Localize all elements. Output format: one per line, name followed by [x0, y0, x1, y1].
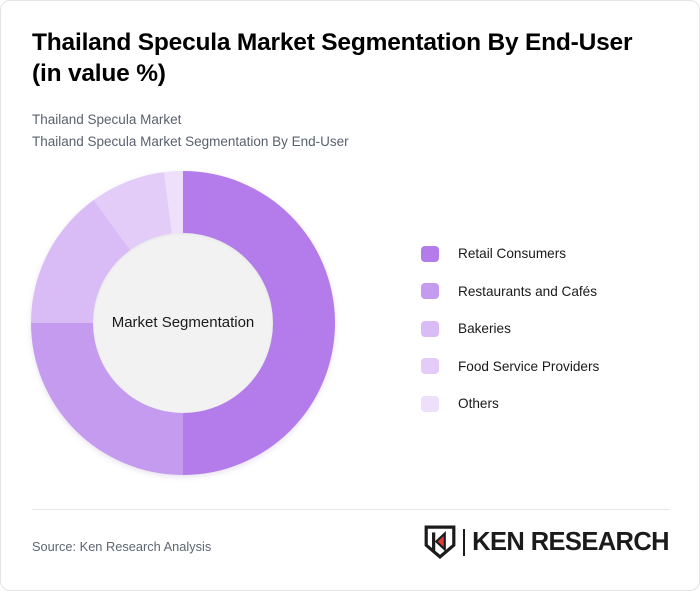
subtitle-market: Thailand Specula Market — [32, 109, 664, 130]
brand-logo: KEN RESEARCH — [423, 525, 669, 559]
chart-plot-area: Market Segmentation Retail Consumers Res… — [1, 161, 700, 506]
legend-item-others[interactable]: Others — [421, 395, 599, 412]
legend-swatch-icon — [421, 321, 439, 337]
legend-swatch-icon — [421, 246, 439, 262]
donut-chart: Market Segmentation — [31, 171, 335, 475]
legend-item-label: Bakeries — [458, 321, 511, 336]
chart-card: Thailand Specula Market Segmentation By … — [0, 0, 700, 591]
brand-divider — [463, 529, 465, 556]
footer-divider — [32, 509, 670, 510]
legend-item-label: Others — [458, 396, 499, 411]
ken-research-shield-icon — [423, 525, 457, 559]
legend-item-retail-consumers[interactable]: Retail Consumers — [421, 245, 599, 262]
donut-center-label: Market Segmentation — [112, 314, 255, 333]
subtitle-segmentation: Thailand Specula Market Segmentation By … — [32, 131, 664, 152]
legend-item-label: Food Service Providers — [458, 359, 599, 374]
legend-item-restaurants-and-cafes[interactable]: Restaurants and Cafés — [421, 283, 599, 300]
source-note: Source: Ken Research Analysis — [32, 539, 211, 554]
brand-name-label: KEN RESEARCH — [472, 528, 669, 557]
page-title: Thailand Specula Market Segmentation By … — [32, 27, 664, 89]
legend-swatch-icon — [421, 358, 439, 374]
legend-swatch-icon — [421, 283, 439, 299]
legend-item-label: Restaurants and Cafés — [458, 284, 597, 299]
legend-item-food-service-providers[interactable]: Food Service Providers — [421, 358, 599, 375]
legend-item-bakeries[interactable]: Bakeries — [421, 320, 599, 337]
donut-center-hole: Market Segmentation — [93, 233, 273, 413]
legend-item-label: Retail Consumers — [458, 246, 566, 261]
legend-swatch-icon — [421, 396, 439, 412]
subtitle-group: Thailand Specula Market Thailand Specula… — [32, 109, 664, 152]
chart-header: Thailand Specula Market Segmentation By … — [32, 27, 664, 152]
chart-legend: Retail Consumers Restaurants and Cafés B… — [421, 245, 599, 412]
